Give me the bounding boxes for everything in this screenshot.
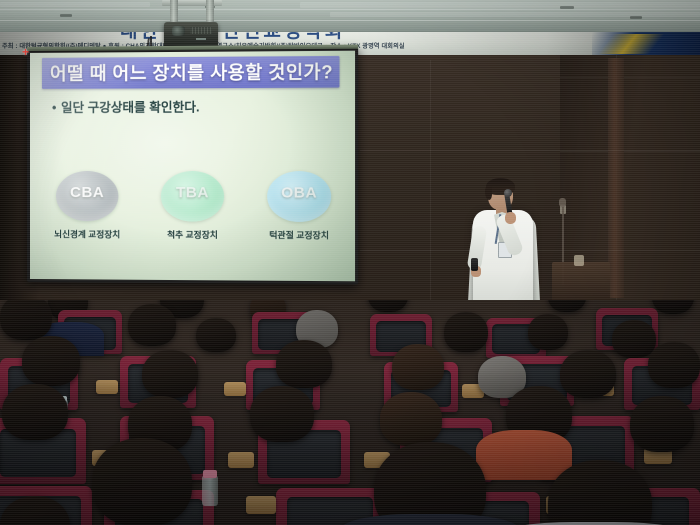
bullet-marker: • — [52, 101, 61, 115]
slide-title-band: 어떨 때 어느 장치를 사용할 것인가? — [42, 56, 339, 89]
slide-circle-row: CBA 뇌신경계 교정장치 TBA 척추 교정장치 OBA 턱관절 교정장치 — [30, 171, 355, 273]
screen-corner-mark: + — [22, 47, 29, 57]
slide-bullet-text: 일단 구강상태를 확인한다. — [61, 100, 199, 115]
wall-column — [608, 58, 624, 298]
podium-object — [574, 255, 584, 266]
slide-circle-item-tba: TBA 척추 교정장치 — [155, 171, 230, 241]
slide-circle-item-cba: CBA 뇌신경계 교정장치 — [50, 171, 124, 240]
projector-indicator — [196, 38, 206, 40]
circle-oba: OBA — [267, 171, 331, 222]
circle-oba-abbr: OBA — [267, 184, 331, 201]
presenter-clicker — [471, 258, 478, 271]
projector-vent — [190, 27, 212, 34]
pink-bottle — [202, 476, 218, 506]
slide-circle-item-oba: OBA 턱관절 교정장치 — [261, 171, 337, 241]
audience-seating — [0, 300, 700, 525]
circle-cba-abbr: CBA — [56, 184, 118, 201]
podium — [552, 262, 610, 304]
circle-cba-label: 뇌신경계 교정장치 — [50, 228, 124, 240]
circle-cba: CBA — [56, 171, 118, 221]
circle-tba-abbr: TBA — [161, 184, 224, 201]
ceiling — [0, 0, 700, 34]
circle-oba-label: 턱관절 교정장치 — [261, 229, 337, 242]
circle-tba: TBA — [161, 171, 224, 222]
circle-tba-label: 척추 교정장치 — [155, 228, 230, 240]
slide-title-text: 어떨 때 어느 장치를 사용할 것인가? — [50, 58, 333, 86]
slide-bullet-line: •일단 구강상태를 확인한다. — [52, 96, 199, 116]
lecture-hall-photo: 대한구강악안면교정학회 주최 : 대한턱균형의학회/(주)메디덴탈 ● 후원 :… — [0, 0, 700, 525]
projection-screen: 어떨 때 어느 장치를 사용할 것인가? •일단 구강상태를 확인한다. CBA… — [30, 51, 355, 282]
projection-screen-frame: 어떨 때 어느 장치를 사용할 것인가? •일단 구강상태를 확인한다. CBA… — [27, 48, 358, 285]
mic-stand-head — [559, 198, 566, 207]
projector-lens — [172, 26, 185, 36]
